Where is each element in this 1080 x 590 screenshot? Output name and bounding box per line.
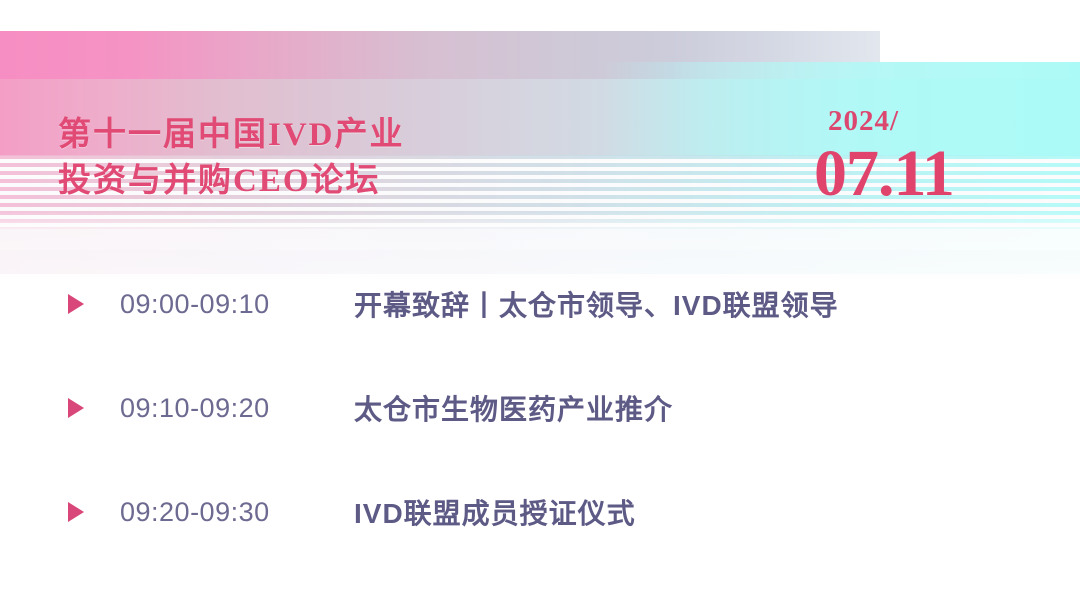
- agenda-row-time: 09:10-09:20: [120, 393, 354, 424]
- agenda-row-time: 09:00-09:10: [120, 289, 354, 320]
- agenda-row-title: 太仓市生物医药产业推介: [354, 388, 673, 428]
- triangle-bullet-icon: [66, 292, 86, 316]
- agenda-row-title: IVD联盟成员授证仪式: [354, 492, 636, 532]
- agenda-row-time: 09:20-09:30: [120, 497, 354, 528]
- page-title-line-2: 投资与并购CEO论坛: [58, 158, 405, 204]
- triangle-bullet-icon: [66, 396, 86, 420]
- agenda-row-title: 开幕致辞丨太仓市领导、IVD联盟领导: [354, 284, 839, 324]
- event-date-year: 2024/: [828, 104, 954, 138]
- stripe-fade-overlay: [0, 210, 1080, 250]
- gradient-band-top: [0, 31, 1080, 79]
- event-date: 2024/ 07.11: [828, 104, 954, 208]
- page-title: 第十一届中国IVD产业 投资与并购CEO论坛: [58, 112, 405, 204]
- page-title-line-1: 第十一届中国IVD产业: [58, 112, 405, 158]
- agenda-poster: 第十一届中国IVD产业 投资与并购CEO论坛 2024/ 07.11 09:00…: [0, 0, 1080, 590]
- agenda-row: 09:20-09:30 IVD联盟成员授证仪式: [0, 460, 1080, 564]
- agenda-list: 09:00-09:10 开幕致辞丨太仓市领导、IVD联盟领导 09:10-09:…: [0, 252, 1080, 564]
- agenda-row: 09:10-09:20 太仓市生物医药产业推介: [0, 356, 1080, 460]
- white-notch-top-right: [880, 0, 1080, 62]
- agenda-row: 09:00-09:10 开幕致辞丨太仓市领导、IVD联盟领导: [0, 252, 1080, 356]
- triangle-bullet-icon: [66, 500, 86, 524]
- event-date-day: 07.11: [814, 140, 954, 208]
